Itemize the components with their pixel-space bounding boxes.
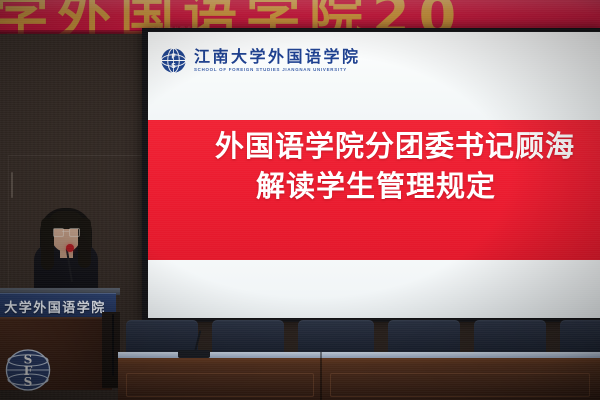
- chair: [560, 320, 600, 354]
- glasses-lens-left: [53, 228, 64, 237]
- jiangnan-university-globe-logo: F S: [160, 47, 187, 74]
- slide-title-line-1: 外国语学院分团委书记顾海: [186, 126, 600, 166]
- lectern-cable: [112, 314, 114, 376]
- lectern-nameplate-text: 大学外国语学院: [4, 297, 106, 316]
- slide-logo-chinese: 江南大学外国语学院: [194, 49, 361, 65]
- presenter-hair-left: [41, 218, 54, 270]
- table-panel-right: [330, 373, 590, 397]
- door-handle: [11, 172, 13, 198]
- slide-logo-block: F S 江南大学外国语学院 SCHOOL OF FOREIGN STUDIES …: [160, 47, 361, 74]
- svg-text:S: S: [24, 375, 33, 389]
- slide-bottom-white-band: [148, 260, 600, 318]
- chair: [388, 320, 460, 354]
- slide-title: 外国语学院分团委书记顾海 解读学生管理规定: [148, 126, 600, 206]
- sfs-globe-emblem: S F S: [4, 346, 52, 394]
- lectern-nameplate: 大学外国语学院: [0, 293, 116, 319]
- desk-microphone: [178, 330, 212, 358]
- presenter-glasses: [53, 228, 79, 235]
- slide-top-white-band: [148, 32, 600, 120]
- glasses-bridge: [62, 231, 69, 232]
- conference-table-front: [118, 364, 600, 400]
- slide-logo-names: 江南大学外国语学院 SCHOOL OF FOREIGN STUDIES JIAN…: [194, 49, 361, 72]
- microphone-head: [66, 244, 74, 252]
- chair: [212, 320, 284, 354]
- slide-logo-english: SCHOOL OF FOREIGN STUDIES JIANGNAN UNIVE…: [194, 68, 361, 72]
- projection-screen: F S 江南大学外国语学院 SCHOOL OF FOREIGN STUDIES …: [148, 32, 600, 318]
- chair: [298, 320, 374, 354]
- svg-text:S: S: [171, 62, 176, 70]
- lecture-hall-photo: 学外国语学院20 江南大学外国语学院 F S 江南大学外国语学院 SCHOOL …: [0, 0, 600, 400]
- lectern: 大学外国语学院 S F S: [0, 288, 120, 400]
- chair: [474, 320, 546, 354]
- podium-microphone: [62, 244, 84, 284]
- svg-text:F: F: [171, 52, 176, 60]
- desk-microphone-base: [178, 350, 210, 358]
- microphone-stem: [66, 248, 73, 282]
- table-seam: [320, 352, 322, 400]
- desk-microphone-stem: [194, 330, 201, 352]
- table-panel-left: [126, 373, 314, 397]
- glasses-lens-right: [69, 228, 80, 237]
- slide-title-line-2: 解读学生管理规定: [148, 166, 600, 206]
